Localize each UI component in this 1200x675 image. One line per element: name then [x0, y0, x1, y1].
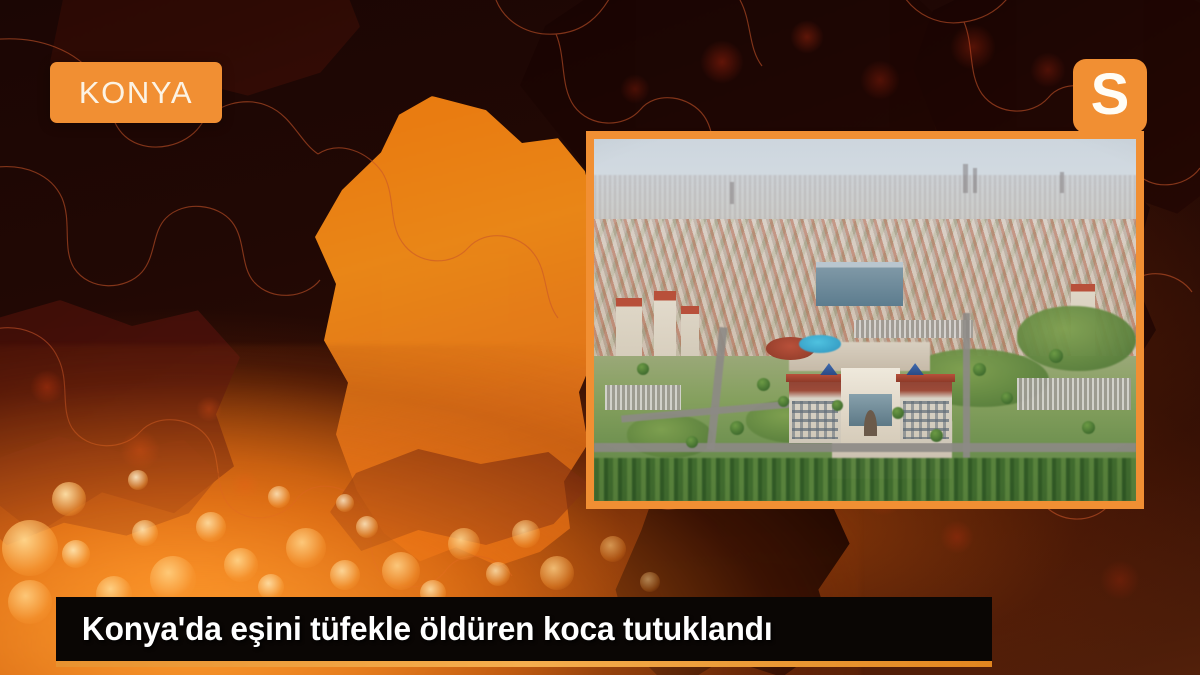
- photo-landmark-roof-right: [896, 374, 955, 383]
- photo-tree: [1001, 392, 1013, 404]
- sabah-logo-letter: S: [1091, 66, 1130, 124]
- photo-parking-lot: [854, 320, 973, 338]
- photo-landmark-building: [789, 356, 952, 443]
- headline-underline: [56, 661, 992, 667]
- city-badge: KONYA: [50, 62, 222, 123]
- photo-pool: [799, 335, 841, 352]
- photo-tree: [930, 429, 943, 442]
- photo-road: [594, 443, 1136, 452]
- sabah-logo[interactable]: S: [1073, 59, 1147, 133]
- photo-road: [963, 313, 970, 458]
- photo-tower: [1060, 172, 1064, 194]
- city-badge-label: KONYA: [79, 77, 193, 108]
- photo-landmark-portal: [864, 410, 877, 436]
- photo-landmark-wing-right: [900, 379, 952, 443]
- headline-bar: Konya'da eşini tüfekle öldüren koca tutu…: [56, 597, 992, 661]
- photo-tower: [973, 168, 977, 193]
- photo-tree: [686, 436, 698, 448]
- headline-text: Konya'da eşini tüfekle öldüren koca tutu…: [56, 610, 772, 648]
- photo-tree: [757, 378, 770, 391]
- photo-tree: [730, 421, 744, 435]
- photo-treeline: [594, 458, 1136, 501]
- photo-tree: [892, 407, 904, 419]
- photo-frame: [586, 131, 1144, 509]
- photo-office-block: [816, 262, 903, 305]
- photo-landmark-wing-left: [789, 379, 841, 443]
- photo-parking-lot: [1017, 378, 1131, 411]
- photo-landmark-dome-left: [820, 363, 838, 375]
- photo-landmark-dome-right: [906, 363, 924, 375]
- city-aerial-photo: [594, 139, 1136, 501]
- photo-tower: [963, 164, 968, 193]
- news-card: KONYA S: [0, 0, 1200, 675]
- photo-tower: [730, 182, 734, 204]
- photo-parking-lot: [605, 385, 681, 410]
